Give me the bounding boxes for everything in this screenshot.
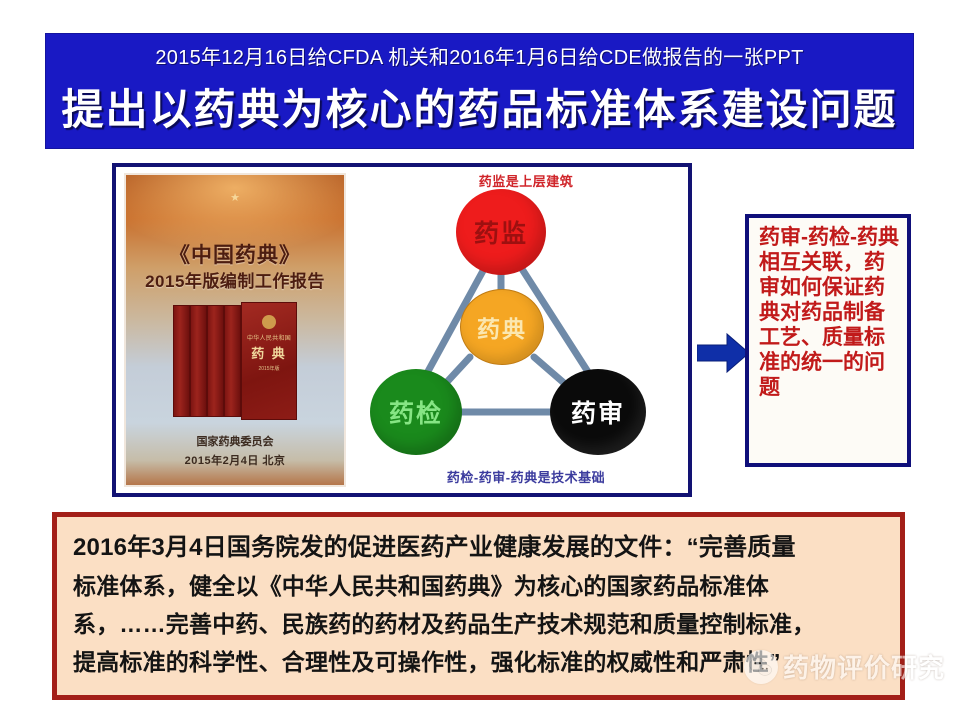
book-title-line2: 2015年版编制工作报告 [126, 267, 344, 292]
statement-line-4: 提高标准的科学性、合理性及可操作性，强化标准的权威性和严肃性” [73, 643, 886, 681]
relationship-diagram: 药监是上层建筑 药监 药典 药检 药审 [364, 171, 688, 493]
diagram-bottom-caption: 药检-药审-药典是技术基础 [364, 467, 688, 486]
volume-label-big: 药 典 [242, 343, 296, 362]
diagram-node-yaojian[interactable]: 药监 [456, 189, 546, 275]
volume-label-sub: 2015年版 [242, 365, 296, 372]
header-subtitle: 2015年12月16日给CFDA 机关和2016年1月6日给CDE做报告的一张P… [46, 41, 913, 70]
book-volumes: 中华人民共和国 药 典 2015年版 [173, 305, 297, 421]
illustration-panel: ★ 《中国药典》 2015年版编制工作报告 中华人民共和国 药 典 2015年版… [112, 163, 692, 497]
statement-line-3: 系，……完善中药、民族药的药材及药品生产技术规范和质量控制标准， [73, 605, 886, 643]
book-title-line1: 《中国药典》 [126, 239, 344, 269]
annotation-box: 药审-药检-药典相互关联，药审如何保证药典对药品制备工艺、质量标准的统一的问题 [745, 214, 911, 467]
diagram-node-yaodian[interactable]: 药典 [460, 289, 544, 365]
volume-spine [190, 305, 207, 417]
book-cover-image: ★ 《中国药典》 2015年版编制工作报告 中华人民共和国 药 典 2015年版… [124, 173, 346, 487]
volume-spine [207, 305, 224, 417]
volume-label-small: 中华人民共和国 [242, 333, 296, 342]
node-label: 药典 [477, 310, 527, 344]
statement-line-1: 2016年3月4日国务院发的促进医药产业健康发展的文件：“完善质量 [73, 529, 886, 567]
volume-front-cover: 中华人民共和国 药 典 2015年版 [241, 302, 297, 420]
node-label: 药监 [474, 214, 528, 250]
book-organization: 国家药典委员会 [126, 433, 344, 449]
node-label: 药审 [571, 394, 625, 430]
volume-spine [173, 305, 190, 417]
page-title: 提出以药典为核心的药品标准体系建设问题 [46, 76, 913, 137]
book-date-place: 2015年2月4日 北京 [126, 452, 344, 468]
slide-header: 2015年12月16日给CFDA 机关和2016年1月6日给CDE做报告的一张P… [45, 33, 914, 149]
slide-canvas: 2015年12月16日给CFDA 机关和2016年1月6日给CDE做报告的一张P… [0, 0, 960, 720]
annotation-text: 药审-药检-药典相互关联，药审如何保证药典对药品制备工艺、质量标准的统一的问题 [759, 225, 899, 400]
node-label: 药检 [389, 394, 443, 430]
statement-line-2: 标准体系，健全以《中华人民共和国药典》为核心的国家药品标准体 [73, 567, 886, 605]
diagram-node-yaojian-inspection[interactable]: 药检 [370, 369, 462, 455]
right-arrow-icon [697, 332, 749, 374]
policy-statement-box: 2016年3月4日国务院发的促进医药产业健康发展的文件：“完善质量 标准体系，健… [52, 512, 905, 700]
emblem-icon [262, 315, 276, 329]
volume-spine [224, 305, 241, 417]
diagram-node-yaoshen[interactable]: 药审 [550, 369, 646, 455]
star-icon: ★ [230, 191, 240, 204]
